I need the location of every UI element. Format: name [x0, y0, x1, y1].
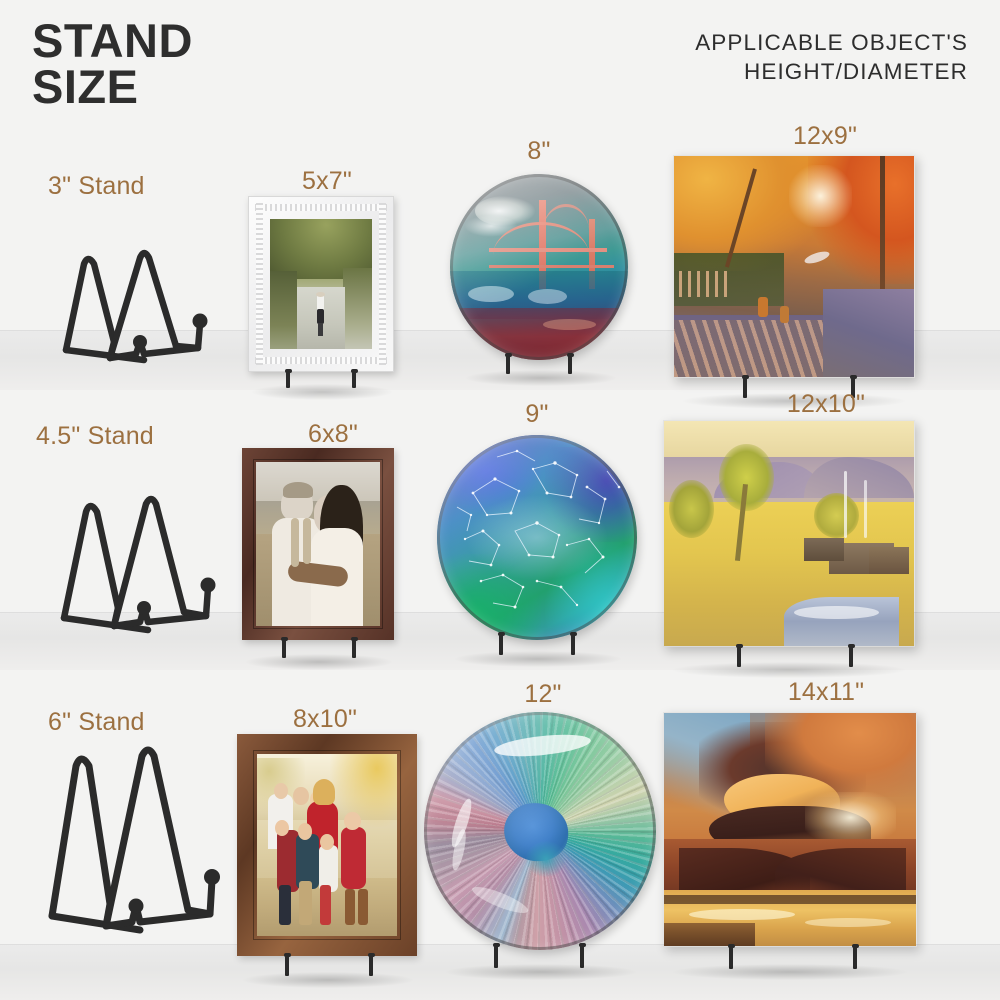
- picture-frame-mahogany: [242, 448, 394, 640]
- picture-frame-white-ornate: [248, 196, 394, 372]
- canvas-fiery-sunset-seascape: [663, 712, 917, 947]
- page-title: STAND SIZE: [32, 18, 193, 110]
- item-9in-plate: [437, 435, 637, 640]
- photo-large-family-autumn-portrait: [257, 754, 397, 936]
- object-shadow: [466, 370, 616, 386]
- stand-ball-tip-right: [201, 578, 216, 593]
- page-subtitle: APPLICABLE OBJECT'S HEIGHT/DIAMETER: [695, 28, 968, 87]
- stand-ball-tip-right: [204, 869, 220, 885]
- item-8in-plate: [450, 174, 628, 360]
- size-row-2: 4.5" Stand 6x8": [0, 390, 1000, 670]
- row-3-stand-label: 6" Stand: [48, 708, 145, 737]
- item-12in-plate: [424, 712, 656, 950]
- easel-stand-4-5in: [48, 490, 238, 640]
- easel-stand-6in: [32, 740, 242, 945]
- row-1-stand-label: 3" Stand: [48, 172, 145, 201]
- item-12x10-canvas: [663, 420, 915, 647]
- stand-ball-tip-left: [129, 899, 144, 914]
- picture-frame-brown-wood: [237, 734, 417, 956]
- item-12x9-canvas: [673, 155, 915, 378]
- object-shadow: [455, 651, 621, 667]
- size-row-3: 6" Stand 8x10": [0, 670, 1000, 1000]
- row-1-item-2-label: 8": [527, 137, 550, 166]
- stand-ball-tip-right: [193, 314, 208, 329]
- object-shadow: [446, 964, 636, 980]
- photo-cyclist-on-tree-lined-road: [270, 219, 372, 349]
- item-8x10-frame: [237, 734, 417, 956]
- page-title-line-1: STAND: [32, 18, 193, 64]
- photo-couple-kissing-in-field: [256, 462, 380, 626]
- infographic-page: STAND SIZE APPLICABLE OBJECT'S HEIGHT/DI…: [0, 0, 1000, 1000]
- object-shadow: [243, 972, 413, 988]
- page-subtitle-line-2: HEIGHT/DIAMETER: [695, 57, 968, 86]
- row-2-item-3-label: 12x10": [787, 390, 865, 419]
- stand-ball-tip-left: [133, 335, 147, 349]
- decorative-plate-star-constellation-map: [437, 435, 637, 640]
- page-title-line-2: SIZE: [32, 64, 193, 110]
- row-3-item-2-label: 12": [524, 680, 561, 709]
- canvas-golden-countryside-cottages: [663, 420, 915, 647]
- item-6x8-frame: [242, 448, 394, 640]
- easel-stand-3in: [48, 242, 228, 367]
- decorative-plate-radial-burst-abstract: [424, 712, 656, 950]
- row-1-item-1-label: 5x7": [302, 167, 352, 196]
- item-14x11-canvas: [663, 712, 917, 947]
- row-2-item-1-label: 6x8": [308, 420, 358, 449]
- stand-ball-tip-left: [137, 601, 151, 615]
- easel-stand-icon: [32, 740, 242, 945]
- easel-stand-icon: [48, 242, 228, 367]
- size-row-1: 3" Stand 5x7": [0, 112, 1000, 390]
- object-shadow: [246, 654, 392, 670]
- decorative-plate-golden-gate: [450, 174, 628, 360]
- row-2-stand-label: 4.5" Stand: [36, 422, 154, 451]
- page-subtitle-line-1: APPLICABLE OBJECT'S: [695, 28, 968, 57]
- row-1-item-3-label: 12x9": [793, 122, 857, 151]
- row-3-item-1-label: 8x10": [293, 705, 357, 734]
- item-5x7-frame: [248, 196, 394, 372]
- easel-stand-icon: [48, 490, 238, 640]
- row-2-item-2-label: 9": [525, 400, 548, 429]
- row-3-item-3-label: 14x11": [788, 678, 864, 707]
- canvas-autumn-forest-with-deer: [673, 155, 915, 378]
- object-shadow: [673, 964, 907, 980]
